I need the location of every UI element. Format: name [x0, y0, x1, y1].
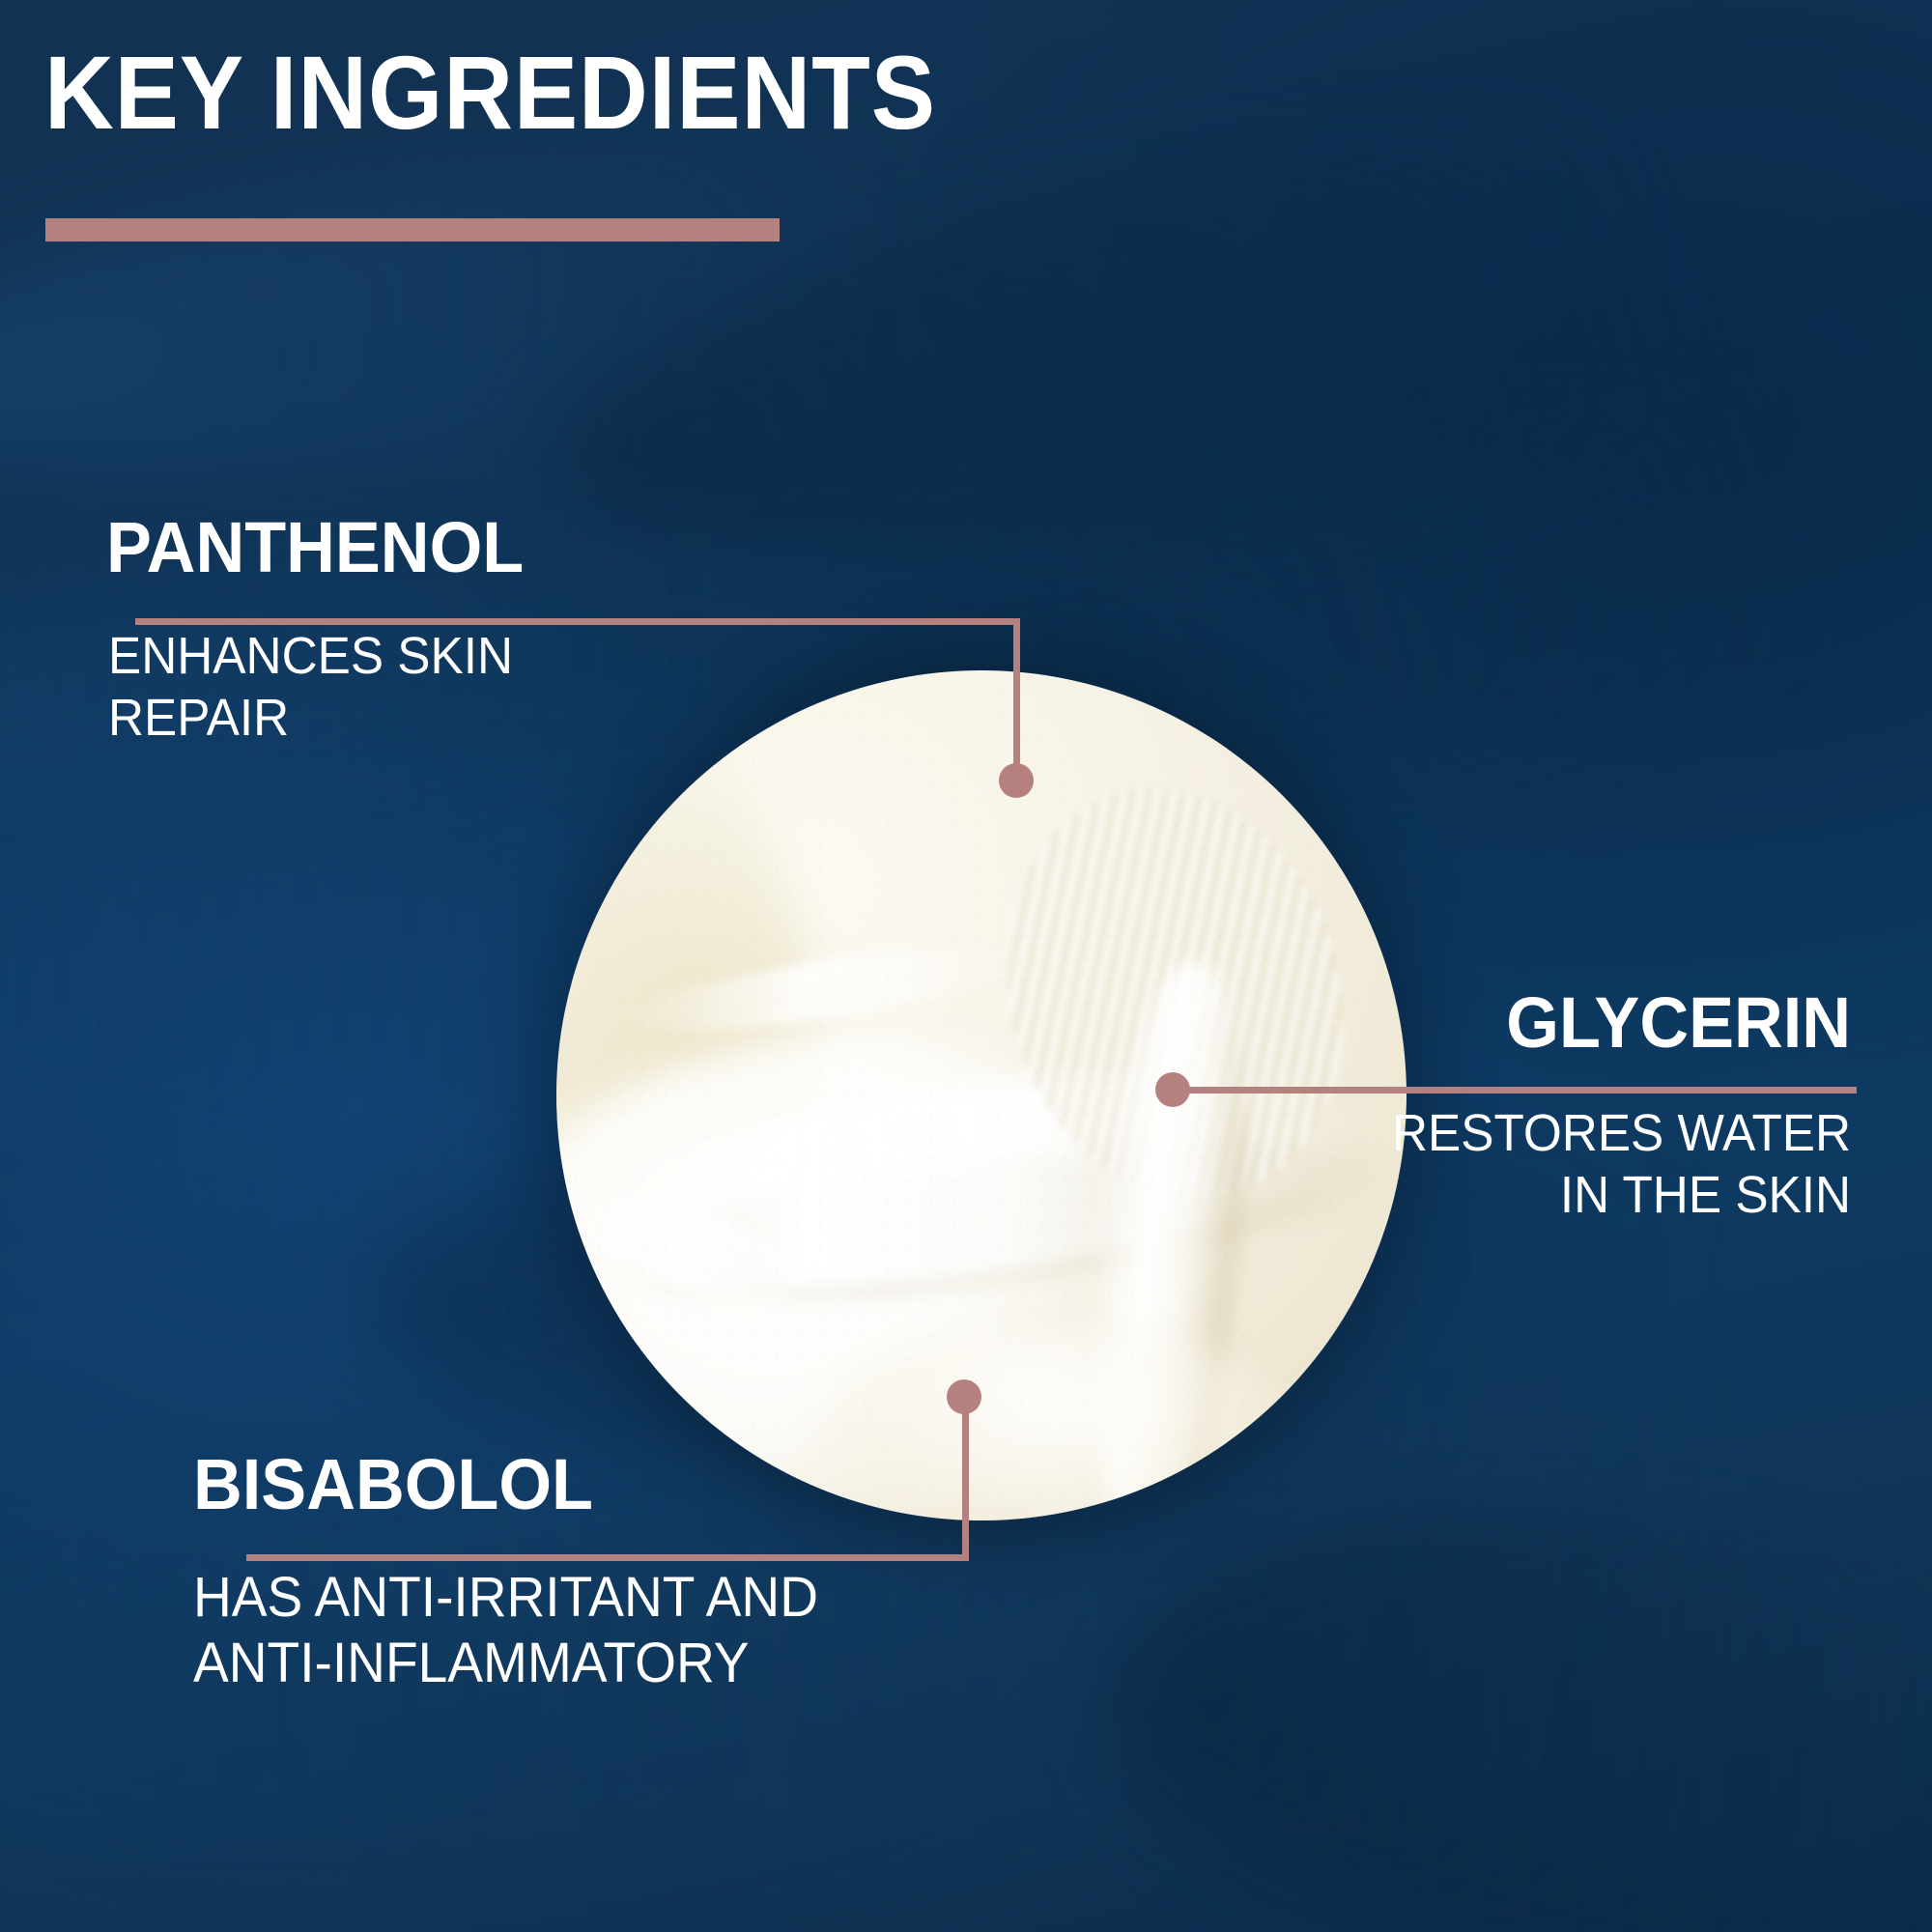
ingredient-callout-glycerin: GLYCERIN RESTORES WATER IN THE SKIN	[1368, 987, 1851, 1226]
panthenol-connector-underline	[135, 618, 1020, 625]
bisabolol-connector-underline	[246, 1554, 969, 1561]
cream-glossy-fold	[1071, 955, 1267, 1520]
cream-grain-texture	[556, 670, 1406, 1520]
cream-ridge-highlight	[585, 1035, 1358, 1331]
panthenol-connector-dot	[999, 763, 1034, 798]
cream-lower-sheen	[808, 1327, 1310, 1520]
cream-texture-image	[556, 670, 1406, 1520]
title-accent-bar	[45, 218, 780, 241]
bisabolol-connector-dot	[947, 1379, 981, 1414]
cream-wisp	[560, 1175, 823, 1325]
key-ingredients-poster: KEY INGREDIENTS PANTHENOL ENHANCES SKIN …	[0, 0, 1932, 1932]
glycerin-connector-underline	[1171, 1087, 1857, 1094]
ingredient-name-bisabolol: BISABOLOL	[193, 1449, 818, 1520]
panthenol-connector-vertical	[1013, 618, 1020, 781]
cream-warm-tone	[556, 728, 817, 1405]
bisabolol-connector-vertical	[962, 1408, 969, 1559]
ingredient-callout-panthenol: PANTHENOL ENHANCES SKIN REPAIR	[106, 512, 546, 749]
ingredient-description-panthenol: ENHANCES SKIN REPAIR	[108, 626, 524, 749]
cream-highlight-streak	[622, 929, 1032, 1050]
ingredient-name-panthenol: PANTHENOL	[106, 512, 524, 583]
cream-shadow-groove	[611, 1110, 1406, 1321]
ingredient-callout-bisabolol: BISABOLOL HAS ANTI-IRRITANT AND ANTI-INF…	[193, 1449, 851, 1697]
background-wave-streak	[1089, 1448, 1932, 1932]
ingredient-description-glycerin: RESTORES WATER IN THE SKIN	[1392, 1103, 1851, 1226]
cream-feather-fan	[959, 749, 1389, 1238]
cream-swirl-body	[556, 967, 1223, 1520]
ingredient-name-glycerin: GLYCERIN	[1392, 987, 1851, 1059]
page-title: KEY INGREDIENTS	[44, 41, 936, 145]
ingredient-description-bisabolol: HAS ANTI-IRRITANT AND ANTI-INFLAMMATORY	[193, 1565, 818, 1697]
glycerin-connector-dot	[1155, 1072, 1190, 1107]
